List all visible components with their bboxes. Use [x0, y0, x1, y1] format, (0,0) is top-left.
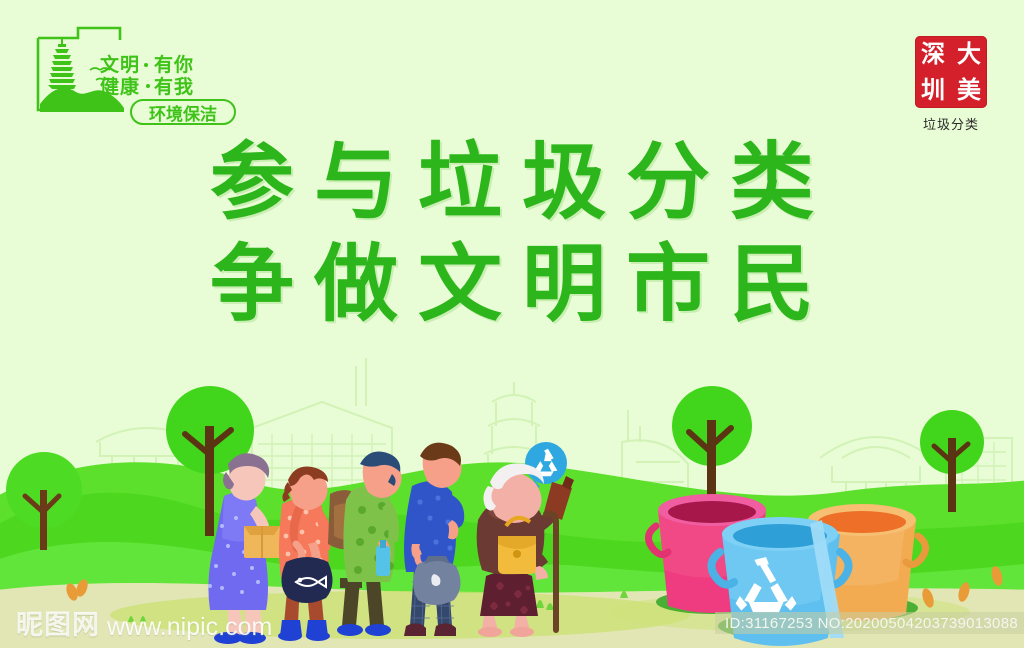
id-strip: ID:31167253 NO:20200504203739013088: [715, 612, 1024, 634]
brand-logo: 文明有你 健康有我 环境保洁: [34, 22, 230, 114]
seal-char-top-left: 深: [915, 36, 951, 72]
brand-dot-2: [146, 84, 150, 88]
seal-char-bottom-left: 圳: [915, 72, 951, 108]
blue-bottle: [376, 546, 390, 576]
brand-dot-1: [144, 63, 148, 67]
poster-canvas: 文明有你 健康有我 环境保洁 深 大 圳 美 垃圾分类 参与垃圾分类 争做文明市…: [0, 0, 1024, 648]
seal-block: 深 大 圳 美 垃圾分类: [908, 36, 994, 132]
headline-line-2: 争做文明市民: [0, 240, 1024, 328]
shenzhen-seal-stamp: 深 大 圳 美: [915, 36, 987, 108]
brand-badge-label: 环境保洁: [149, 100, 217, 125]
brand-badge: 环境保洁: [130, 99, 236, 125]
watermark-brand: 昵图网: [16, 603, 100, 642]
page-title: 参与垃圾分类 争做文明市民: [0, 138, 1024, 328]
illustration-scene: [0, 330, 1024, 648]
seal-char-top-right: 大: [951, 36, 987, 72]
black-bag-with-fishbone: [281, 557, 332, 603]
seal-char-bottom-right: 美: [951, 72, 987, 108]
watermark: 昵图网 www.nipic.com: [16, 603, 272, 642]
id-text: ID:31167253 NO:20200504203739013088: [725, 615, 1018, 632]
seal-caption: 垃圾分类: [908, 114, 994, 133]
watermark-url: www.nipic.com: [107, 613, 272, 642]
headline-line-1: 参与垃圾分类: [0, 138, 1024, 226]
